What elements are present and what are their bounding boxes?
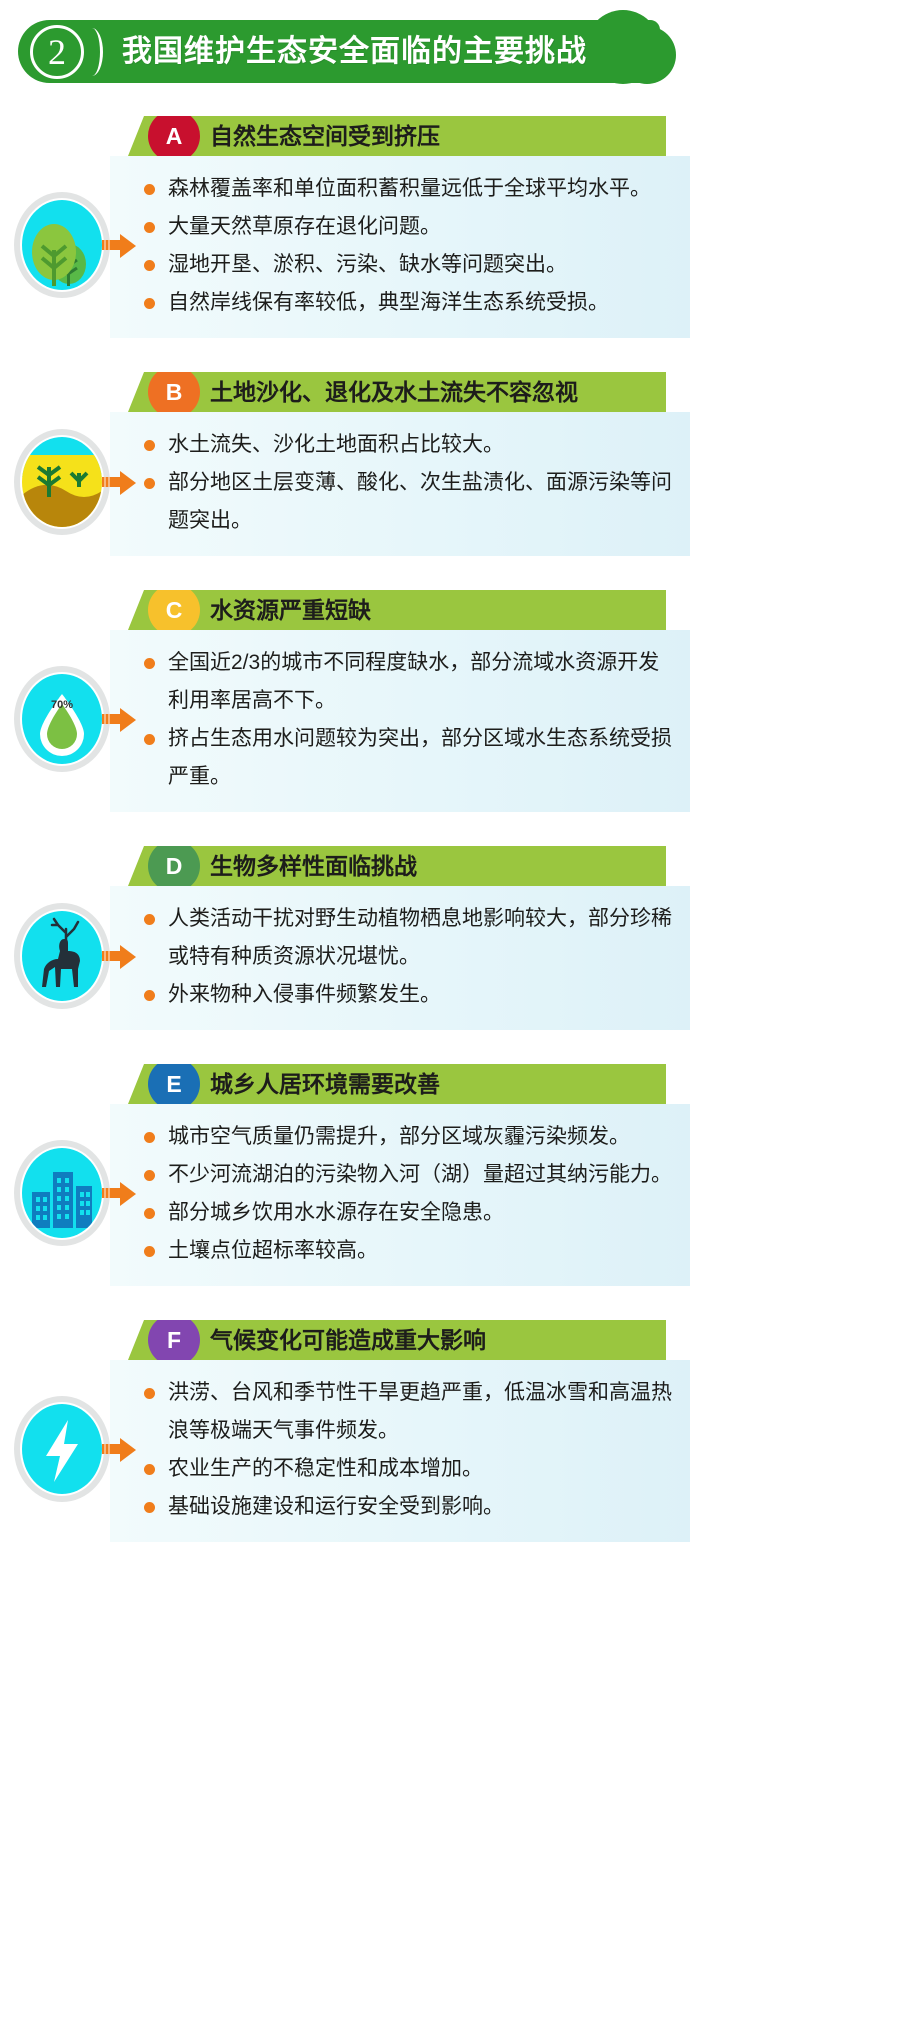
section-f: F气候变化可能造成重大影响洪涝、台风和季节性干旱更趋严重，低温冰雪和高温热浪等极… bbox=[0, 1320, 909, 1542]
bullet-item: 湿地开垦、淤积、污染、缺水等问题突出。 bbox=[138, 246, 676, 284]
section-icon-wrap-e bbox=[14, 1140, 114, 1250]
bullet-item: 部分城乡饮用水水源存在安全隐患。 bbox=[138, 1194, 676, 1232]
bullet-item: 洪涝、台风和季节性干旱更趋严重，低温冰雪和高温热浪等极端天气事件频发。 bbox=[138, 1374, 676, 1450]
water-drop-icon: 70% bbox=[22, 674, 102, 764]
section-badge-f: F bbox=[148, 1314, 200, 1366]
section-title-a: 自然生态空间受到挤压 bbox=[210, 116, 440, 156]
city-buildings-icon bbox=[22, 1148, 102, 1238]
section-banner-c: C水资源严重短缺 bbox=[128, 590, 666, 630]
section-banner-d: D生物多样性面临挑战 bbox=[128, 846, 666, 886]
section-badge-d: D bbox=[148, 840, 200, 892]
banner-tail-shape bbox=[666, 590, 690, 630]
arrow-right-icon bbox=[120, 708, 136, 732]
section-b: B土地沙化、退化及水土流失不容忽视水土流失、沙化土地面积占比较大。部分地区土层变… bbox=[0, 372, 909, 556]
section-body-d: 人类活动干扰对野生动植物栖息地影响较大，部分珍稀或特有种质资源状况堪忧。外来物种… bbox=[110, 886, 690, 1030]
section-title-d: 生物多样性面临挑战 bbox=[210, 846, 417, 886]
bullet-item: 大量天然草原存在退化问题。 bbox=[138, 208, 676, 246]
bullet-item: 自然岸线保有率较低，典型海洋生态系统受损。 bbox=[138, 284, 676, 322]
bullet-item: 土壤点位超标率较高。 bbox=[138, 1232, 676, 1270]
bullet-item: 全国近2/3的城市不同程度缺水，部分流域水资源开发利用率居高不下。 bbox=[138, 644, 676, 720]
bullet-item: 不少河流湖泊的污染物入河（湖）量超过其纳污能力。 bbox=[138, 1156, 676, 1194]
svg-text:70%: 70% bbox=[51, 699, 73, 711]
bullet-item: 水土流失、沙化土地面积占比较大。 bbox=[138, 426, 676, 464]
header-paren-icon bbox=[81, 28, 103, 76]
bullet-list: 全国近2/3的城市不同程度缺水，部分流域水资源开发利用率居高不下。挤占生态用水问… bbox=[138, 644, 676, 796]
forest-trees-icon bbox=[22, 200, 102, 290]
banner-tail-shape bbox=[666, 1320, 690, 1360]
section-icon-wrap-f bbox=[14, 1396, 114, 1506]
section-banner-a: A自然生态空间受到挤压 bbox=[128, 116, 666, 156]
arrow-right-icon bbox=[120, 1182, 136, 1206]
section-title-c: 水资源严重短缺 bbox=[210, 590, 371, 630]
bullet-list: 洪涝、台风和季节性干旱更趋严重，低温冰雪和高温热浪等极端天气事件频发。农业生产的… bbox=[138, 1374, 676, 1526]
bullet-item: 部分地区土层变薄、酸化、次生盐渍化、面源污染等问题突出。 bbox=[138, 464, 676, 540]
section-badge-b: B bbox=[148, 366, 200, 418]
header-number: 2 bbox=[30, 25, 84, 79]
section-badge-c: C bbox=[148, 584, 200, 636]
section-badge-e: E bbox=[148, 1058, 200, 1110]
section-e: E城乡人居环境需要改善城市空气质量仍需提升，部分区域灰霾污染频发。不少河流湖泊的… bbox=[0, 1064, 909, 1286]
banner-tail-shape bbox=[666, 372, 690, 412]
banner-tail-shape bbox=[666, 116, 690, 156]
section-d: D生物多样性面临挑战人类活动干扰对野生动植物栖息地影响较大，部分珍稀或特有种质资… bbox=[0, 846, 909, 1030]
bullet-list: 人类活动干扰对野生动植物栖息地影响较大，部分珍稀或特有种质资源状况堪忧。外来物种… bbox=[138, 900, 676, 1014]
page-title: 我国维护生态安全面临的主要挑战 bbox=[122, 20, 587, 83]
section-icon-wrap-d bbox=[14, 903, 114, 1013]
bullet-item: 农业生产的不稳定性和成本增加。 bbox=[138, 1450, 676, 1488]
section-title-b: 土地沙化、退化及水土流失不容忽视 bbox=[210, 372, 578, 412]
section-body-f: 洪涝、台风和季节性干旱更趋严重，低温冰雪和高温热浪等极端天气事件频发。农业生产的… bbox=[110, 1360, 690, 1542]
section-icon-wrap-a bbox=[14, 192, 114, 302]
bullet-list: 森林覆盖率和单位面积蓄积量远低于全球平均水平。大量天然草原存在退化问题。湿地开垦… bbox=[138, 170, 676, 322]
section-banner-b: B土地沙化、退化及水土流失不容忽视 bbox=[128, 372, 666, 412]
bullet-item: 基础设施建设和运行安全受到影响。 bbox=[138, 1488, 676, 1526]
section-badge-a: A bbox=[148, 110, 200, 162]
section-icon-wrap-c: 70% bbox=[14, 666, 114, 776]
bullet-item: 挤占生态用水问题较为突出，部分区域水生态系统受损严重。 bbox=[138, 720, 676, 796]
bullet-item: 人类活动干扰对野生动植物栖息地影响较大，部分珍稀或特有种质资源状况堪忧。 bbox=[138, 900, 676, 976]
arrow-right-icon bbox=[120, 945, 136, 969]
bullet-item: 外来物种入侵事件频繁发生。 bbox=[138, 976, 676, 1014]
arrow-right-icon bbox=[120, 1438, 136, 1462]
banner-tail-shape bbox=[666, 846, 690, 886]
arrow-right-icon bbox=[120, 234, 136, 258]
bullet-list: 城市空气质量仍需提升，部分区域灰霾污染频发。不少河流湖泊的污染物入河（湖）量超过… bbox=[138, 1118, 676, 1270]
arrow-right-icon bbox=[120, 471, 136, 495]
section-body-c: 全国近2/3的城市不同程度缺水，部分流域水资源开发利用率居高不下。挤占生态用水问… bbox=[110, 630, 690, 812]
bullet-list: 水土流失、沙化土地面积占比较大。部分地区土层变薄、酸化、次生盐渍化、面源污染等问… bbox=[138, 426, 676, 540]
desertified-land-icon bbox=[22, 437, 102, 527]
banner-tail-shape bbox=[666, 1064, 690, 1104]
lightning-storm-icon bbox=[22, 1404, 102, 1494]
section-banner-e: E城乡人居环境需要改善 bbox=[128, 1064, 666, 1104]
sections-container: A自然生态空间受到挤压森林覆盖率和单位面积蓄积量远低于全球平均水平。大量天然草原… bbox=[0, 116, 909, 1542]
section-icon-wrap-b bbox=[14, 429, 114, 539]
section-banner-f: F气候变化可能造成重大影响 bbox=[128, 1320, 666, 1360]
infographic-page: 2 我国维护生态安全面临的主要挑战 A自然生态空间受到挤压森林覆盖率和单位面积蓄… bbox=[0, 0, 909, 2032]
page-header: 2 我国维护生态安全面临的主要挑战 bbox=[18, 20, 708, 90]
section-a: A自然生态空间受到挤压森林覆盖率和单位面积蓄积量远低于全球平均水平。大量天然草原… bbox=[0, 116, 909, 338]
deer-wildlife-icon bbox=[22, 911, 102, 1001]
bullet-item: 森林覆盖率和单位面积蓄积量远低于全球平均水平。 bbox=[138, 170, 676, 208]
section-title-f: 气候变化可能造成重大影响 bbox=[210, 1320, 486, 1360]
section-title-e: 城乡人居环境需要改善 bbox=[210, 1064, 440, 1104]
section-c: C水资源严重短缺全国近2/3的城市不同程度缺水，部分流域水资源开发利用率居高不下… bbox=[0, 590, 909, 812]
section-body-b: 水土流失、沙化土地面积占比较大。部分地区土层变薄、酸化、次生盐渍化、面源污染等问… bbox=[110, 412, 690, 556]
section-body-a: 森林覆盖率和单位面积蓄积量远低于全球平均水平。大量天然草原存在退化问题。湿地开垦… bbox=[110, 156, 690, 338]
bullet-item: 城市空气质量仍需提升，部分区域灰霾污染频发。 bbox=[138, 1118, 676, 1156]
section-body-e: 城市空气质量仍需提升，部分区域灰霾污染频发。不少河流湖泊的污染物入河（湖）量超过… bbox=[110, 1104, 690, 1286]
